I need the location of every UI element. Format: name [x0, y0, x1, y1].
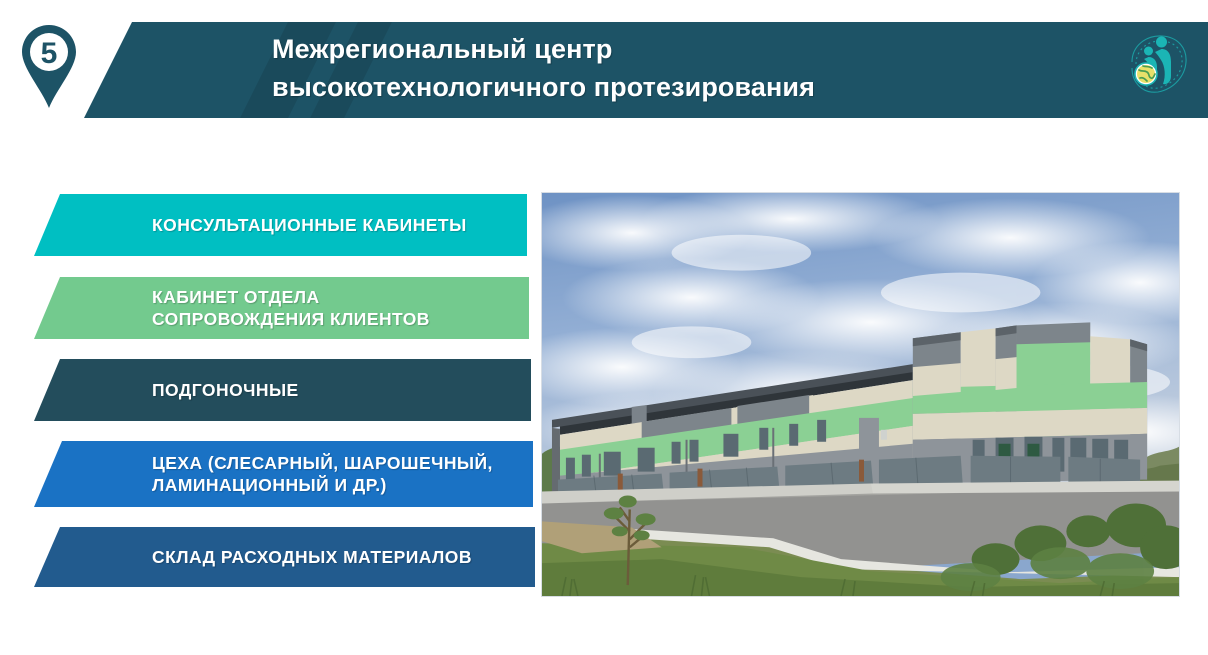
- banner-consumables-warehouse[interactable]: СКЛАД РАСХОДНЫХ МАТЕРИАЛОВ: [34, 527, 535, 587]
- banner-label: ПОДГОНОЧНЫЕ: [152, 379, 299, 401]
- banner-label: КОНСУЛЬТАЦИОННЫЕ КАБИНЕТЫ: [152, 214, 467, 236]
- banner-label: КАБИНЕТ ОТДЕЛА СОПРОВОЖДЕНИЯ КЛИЕНТОВ: [152, 286, 430, 331]
- banner-label: ЦЕХА (СЛЕСАРНЫЙ, ШАРОШЕЧНЫЙ, ЛАМИНАЦИОНН…: [152, 452, 493, 497]
- presentation-slide: 5 Межрегиональный центр высокотехнологич…: [0, 0, 1208, 655]
- building-photo: [541, 192, 1180, 597]
- banner-label: СКЛАД РАСХОДНЫХ МАТЕРИАЛОВ: [152, 546, 472, 568]
- banner-workshops[interactable]: ЦЕХА (СЛЕСАРНЫЙ, ШАРОШЕЧНЫЙ, ЛАМИНАЦИОНН…: [34, 441, 533, 507]
- banner-fitting-rooms[interactable]: ПОДГОНОЧНЫЕ: [34, 359, 531, 421]
- banner-client-support-office[interactable]: КАБИНЕТ ОТДЕЛА СОПРОВОЖДЕНИЯ КЛИЕНТОВ: [34, 277, 529, 339]
- organization-logo-icon: [1124, 32, 1192, 98]
- facility-list: КОНСУЛЬТАЦИОННЫЕ КАБИНЕТЫ КАБИНЕТ ОТДЕЛА…: [0, 0, 540, 655]
- banner-consultation-rooms[interactable]: КОНСУЛЬТАЦИОННЫЕ КАБИНЕТЫ: [34, 194, 527, 256]
